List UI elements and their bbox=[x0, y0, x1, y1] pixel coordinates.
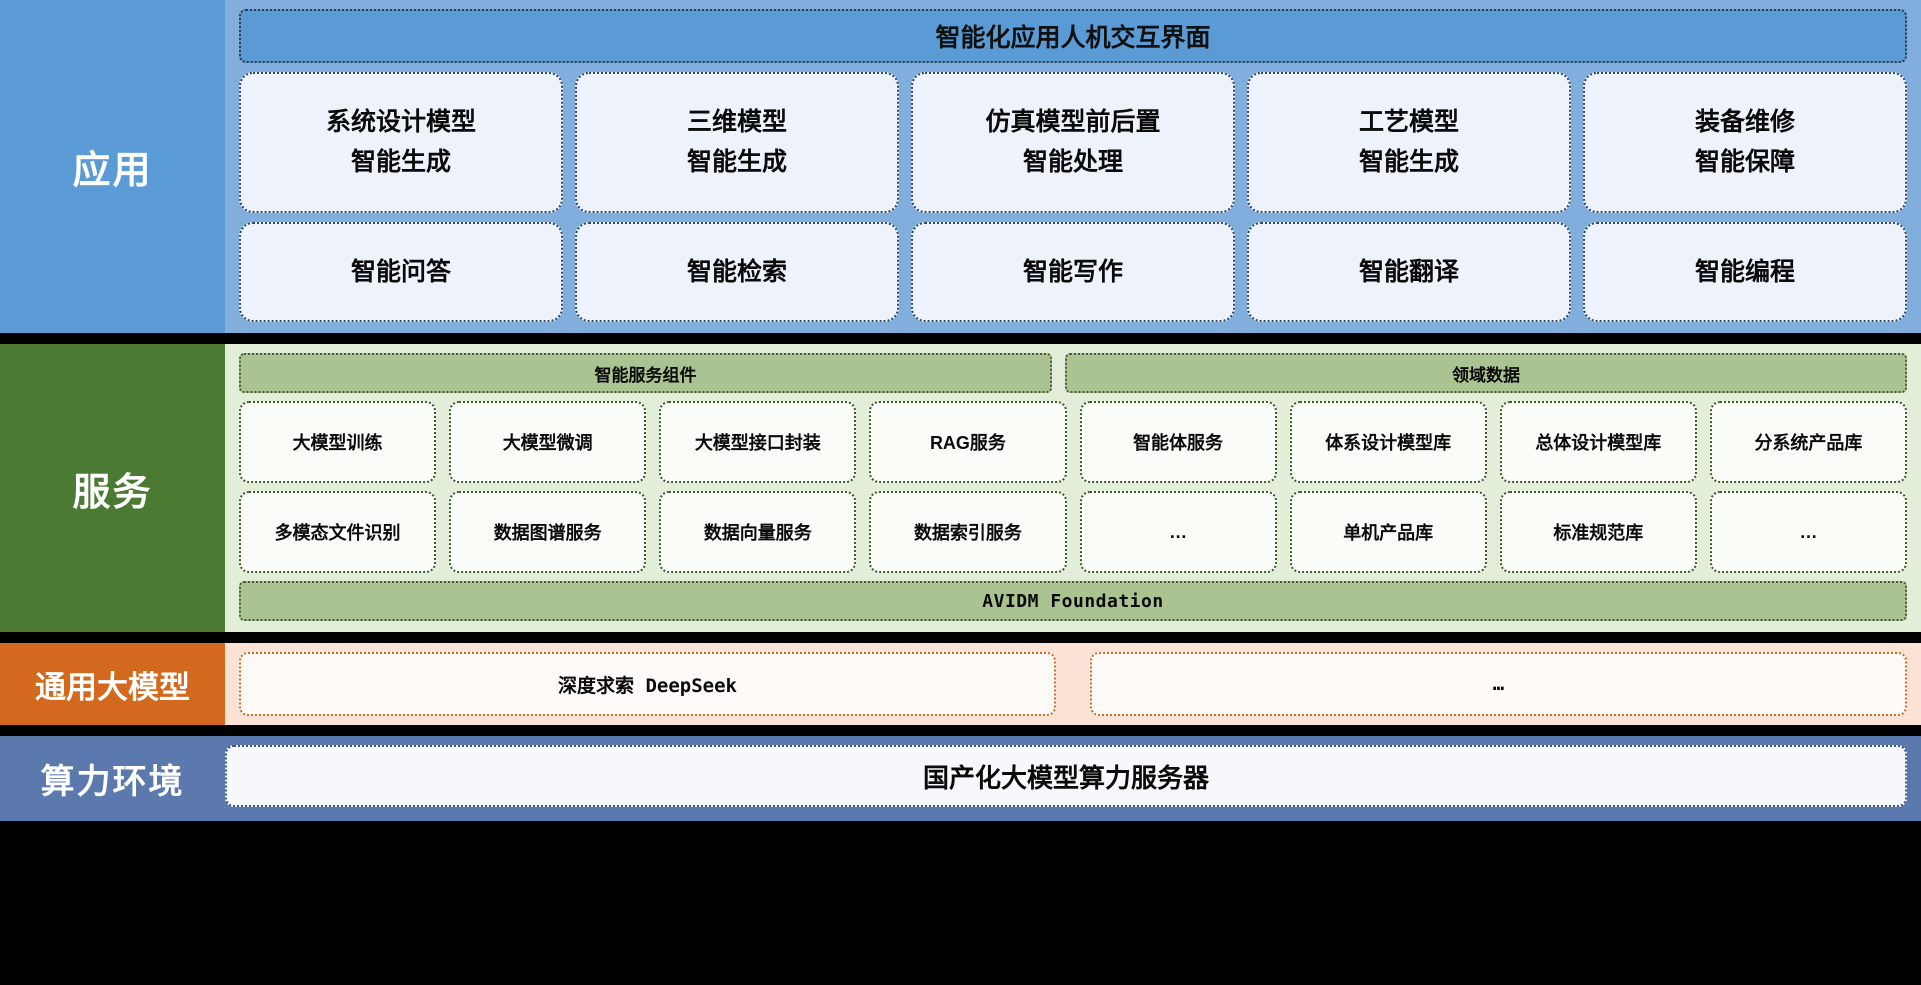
app-card-intelligent-programming[interactable]: 智能编程 bbox=[1583, 222, 1907, 322]
app-card-intelligent-qa[interactable]: 智能问答 bbox=[239, 222, 563, 322]
general-model-layer: 通用大模型 深度求索 DeepSeek … bbox=[0, 643, 1921, 725]
app-card-line1: 智能问答 bbox=[351, 253, 451, 292]
service-chip-agent-service[interactable]: 智能体服务 bbox=[1080, 401, 1277, 483]
service-header-domain-data: 领域数据 bbox=[1065, 353, 1907, 393]
application-layer: 应用 智能化应用人机交互界面 系统设计模型 智能生成 三维模型 智能生成 仿真模… bbox=[0, 0, 1921, 333]
service-layer-body: 智能服务组件 领域数据 大模型训练 大模型微调 大模型接口封装 RAG服务 智能… bbox=[225, 344, 1921, 632]
service-chip-model-finetune[interactable]: 大模型微调 bbox=[449, 401, 646, 483]
app-card-line1: 智能写作 bbox=[1023, 253, 1123, 292]
general-model-deepseek[interactable]: 深度求索 DeepSeek bbox=[239, 652, 1056, 716]
service-chip-components-more[interactable]: … bbox=[1080, 491, 1277, 573]
app-card-intelligent-search[interactable]: 智能检索 bbox=[575, 222, 899, 322]
app-card-line1: 智能编程 bbox=[1695, 253, 1795, 292]
app-card-simulation-model[interactable]: 仿真模型前后置 智能处理 bbox=[911, 72, 1235, 213]
app-card-line1: 三维模型 bbox=[687, 103, 787, 142]
app-card-line2: 智能保障 bbox=[1695, 143, 1795, 182]
service-chip-data-graph-service[interactable]: 数据图谱服务 bbox=[449, 491, 646, 573]
architecture-diagram: 应用 智能化应用人机交互界面 系统设计模型 智能生成 三维模型 智能生成 仿真模… bbox=[0, 0, 1921, 985]
app-card-line1: 系统设计模型 bbox=[326, 103, 476, 142]
app-card-line1: 智能翻译 bbox=[1359, 253, 1459, 292]
compute-server-box[interactable]: 国产化大模型算力服务器 bbox=[225, 745, 1907, 807]
app-card-line1: 智能检索 bbox=[687, 253, 787, 292]
layer-divider bbox=[0, 333, 1921, 344]
service-chip-data-vector-service[interactable]: 数据向量服务 bbox=[659, 491, 856, 573]
app-card-line2: 智能生成 bbox=[1359, 143, 1459, 182]
service-chip-standards-library[interactable]: 标准规范库 bbox=[1500, 491, 1697, 573]
compute-layer: 算力环境 国产化大模型算力服务器 bbox=[0, 736, 1921, 821]
general-model-layer-label: 通用大模型 bbox=[0, 643, 225, 725]
app-card-line1: 工艺模型 bbox=[1359, 103, 1459, 142]
avidm-foundation-bar: AVIDM Foundation bbox=[239, 581, 1907, 621]
app-card-line1: 装备维修 bbox=[1695, 103, 1795, 142]
app-card-3d-model[interactable]: 三维模型 智能生成 bbox=[575, 72, 899, 213]
service-chip-row-2: 多模态文件识别 数据图谱服务 数据向量服务 数据索引服务 … 单机产品库 标准规… bbox=[239, 491, 1907, 573]
general-model-layer-body: 深度求索 DeepSeek … bbox=[225, 643, 1921, 725]
service-layer: 服务 智能服务组件 领域数据 大模型训练 大模型微调 大模型接口封装 RAG服务… bbox=[0, 344, 1921, 632]
app-card-line1: 仿真模型前后置 bbox=[985, 103, 1160, 142]
app-card-intelligent-writing[interactable]: 智能写作 bbox=[911, 222, 1235, 322]
service-chip-model-api-wrapper[interactable]: 大模型接口封装 bbox=[659, 401, 856, 483]
service-chip-row-1: 大模型训练 大模型微调 大模型接口封装 RAG服务 智能体服务 体系设计模型库 … bbox=[239, 401, 1907, 483]
app-card-process-model[interactable]: 工艺模型 智能生成 bbox=[1247, 72, 1571, 213]
service-chip-multimodal-file-recognition[interactable]: 多模态文件识别 bbox=[239, 491, 436, 573]
service-chip-architecture-model-library[interactable]: 体系设计模型库 bbox=[1290, 401, 1487, 483]
service-chip-overall-design-model-library[interactable]: 总体设计模型库 bbox=[1500, 401, 1697, 483]
app-card-line2: 智能处理 bbox=[1023, 143, 1123, 182]
service-layer-label: 服务 bbox=[0, 344, 225, 632]
application-layer-label: 应用 bbox=[0, 0, 225, 333]
service-chip-rag-service[interactable]: RAG服务 bbox=[869, 401, 1066, 483]
service-chip-data-index-service[interactable]: 数据索引服务 bbox=[869, 491, 1066, 573]
app-card-equipment-maintenance[interactable]: 装备维修 智能保障 bbox=[1583, 72, 1907, 213]
app-card-system-design-model[interactable]: 系统设计模型 智能生成 bbox=[239, 72, 563, 213]
service-header-row: 智能服务组件 领域数据 bbox=[239, 353, 1907, 393]
service-chip-domain-more[interactable]: … bbox=[1710, 491, 1907, 573]
compute-layer-body: 国产化大模型算力服务器 bbox=[225, 736, 1921, 821]
app-card-intelligent-translation[interactable]: 智能翻译 bbox=[1247, 222, 1571, 322]
application-layer-body: 智能化应用人机交互界面 系统设计模型 智能生成 三维模型 智能生成 仿真模型前后… bbox=[225, 0, 1921, 333]
service-chip-model-training[interactable]: 大模型训练 bbox=[239, 401, 436, 483]
app-card-line2: 智能生成 bbox=[351, 143, 451, 182]
service-header-components: 智能服务组件 bbox=[239, 353, 1052, 393]
app-card-line2: 智能生成 bbox=[687, 143, 787, 182]
layer-divider bbox=[0, 725, 1921, 736]
application-interface-banner: 智能化应用人机交互界面 bbox=[239, 9, 1907, 63]
service-chip-standalone-product-library[interactable]: 单机产品库 bbox=[1290, 491, 1487, 573]
layer-divider bbox=[0, 632, 1921, 643]
general-model-more[interactable]: … bbox=[1090, 652, 1907, 716]
service-chip-subsystem-product-library[interactable]: 分系统产品库 bbox=[1710, 401, 1907, 483]
application-row-1: 系统设计模型 智能生成 三维模型 智能生成 仿真模型前后置 智能处理 工艺模型 … bbox=[239, 72, 1907, 213]
application-row-2: 智能问答 智能检索 智能写作 智能翻译 智能编程 bbox=[239, 222, 1907, 322]
compute-layer-label: 算力环境 bbox=[0, 736, 225, 821]
general-model-row: 深度求索 DeepSeek … bbox=[239, 652, 1907, 716]
